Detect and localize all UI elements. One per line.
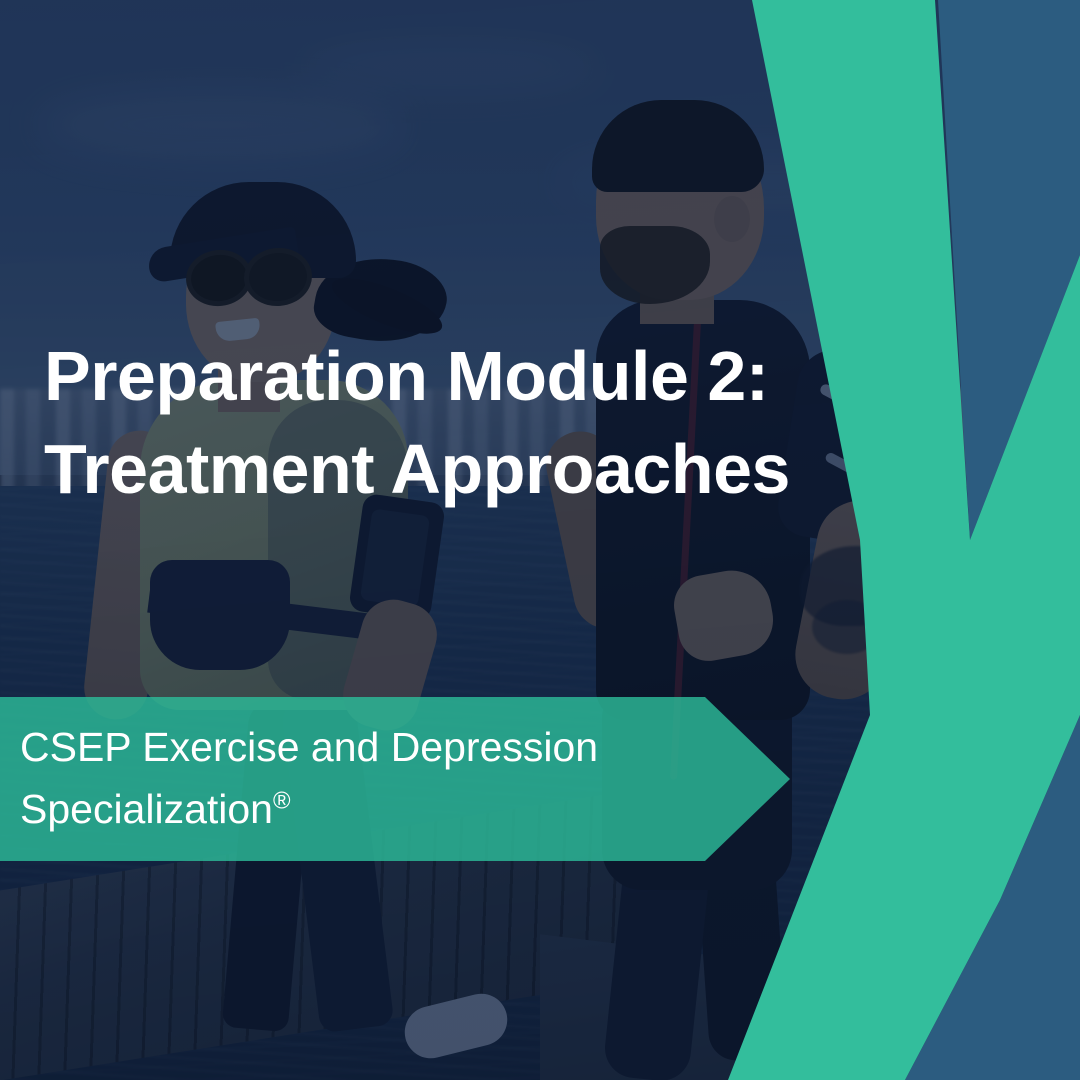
title-line-1: Preparation Module 2: [44, 330, 844, 423]
page-title: Preparation Module 2: Treatment Approach… [44, 330, 844, 516]
background-photo [0, 0, 1080, 1080]
registered-trademark-symbol: ® [273, 787, 291, 814]
subtitle-text: CSEP Exercise and Depression Specializat… [20, 717, 700, 840]
subtitle-line-2-text: Specialization [20, 786, 273, 832]
promo-slide: Preparation Module 2: Treatment Approach… [0, 0, 1080, 1080]
subtitle-line-1: CSEP Exercise and Depression [20, 717, 700, 779]
title-line-2: Treatment Approaches [44, 423, 844, 516]
subtitle-line-2: Specialization® [20, 779, 700, 841]
photo-navy-tint [0, 0, 1080, 1080]
subtitle-banner: CSEP Exercise and Depression Specializat… [0, 697, 790, 861]
